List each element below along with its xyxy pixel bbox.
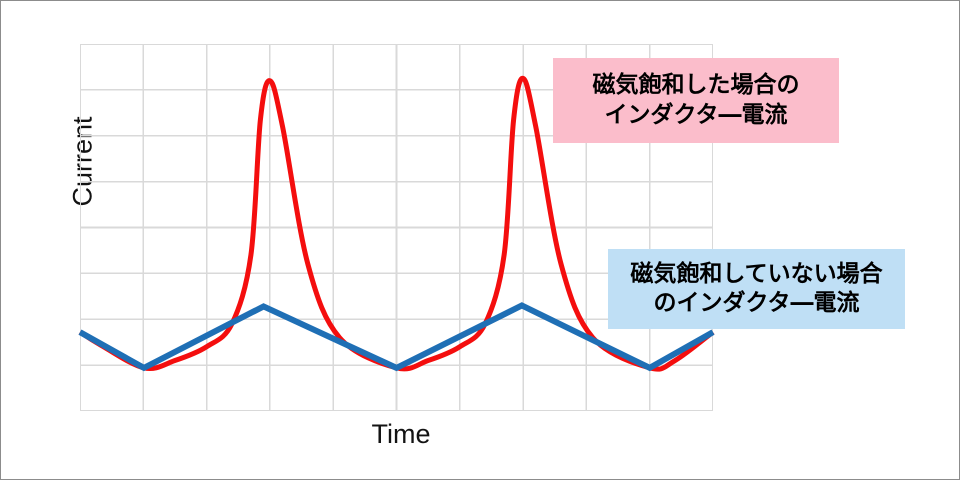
annotation-unsaturated-line2: のインダクタ―電流 xyxy=(653,289,859,318)
annotation-unsaturated-line1: 磁気飽和していない場合 xyxy=(630,260,882,289)
annotation-saturated-line2: インダクタ―電流 xyxy=(604,101,787,130)
annotation-unsaturated-current: 磁気飽和していない場合 のインダクタ―電流 xyxy=(608,249,905,329)
x-axis-label: Time xyxy=(1,419,960,450)
annotation-saturated-line1: 磁気飽和した場合の xyxy=(593,71,800,100)
x-axis-label-text: Time xyxy=(372,419,431,449)
annotation-saturated-current: 磁気飽和した場合の インダクタ―電流 xyxy=(553,58,839,143)
chart-figure: Current Time 磁気飽和した場合の インダクタ―電流 磁気飽和していな… xyxy=(0,0,960,480)
